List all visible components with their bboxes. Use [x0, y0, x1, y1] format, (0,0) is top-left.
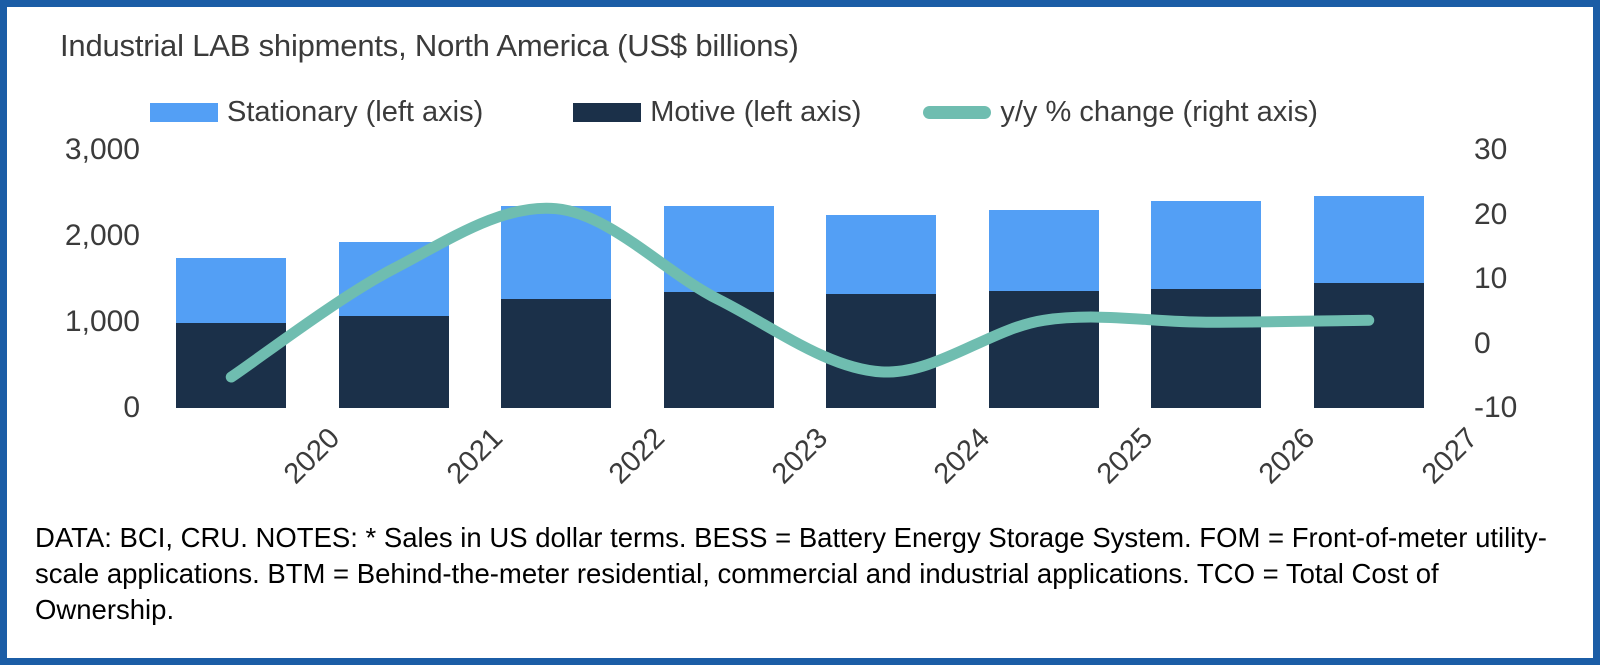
legend-swatch-motive-icon [573, 103, 641, 122]
x-axis-tick: 2026 [1253, 422, 1322, 491]
legend-label-yy-change: y/y % change (right axis) [1000, 96, 1318, 129]
x-axis-tick: 2024 [928, 422, 997, 491]
x-axis-tick: 2027 [1416, 422, 1485, 491]
chart-title: Industrial LAB shipments, North America … [60, 28, 799, 64]
plot-area [150, 150, 1450, 408]
right-axis-tick: 30 [1474, 135, 1507, 165]
x-axis-tick: 2022 [603, 422, 672, 491]
legend-item-stationary: Stationary (left axis) [150, 96, 483, 129]
chart-legend: Stationary (left axis) Motive (left axis… [150, 92, 1318, 132]
legend-item-yy-change: y/y % change (right axis) [923, 96, 1318, 129]
yy-change-line-path [231, 208, 1369, 377]
legend-item-motive: Motive (left axis) [573, 96, 861, 129]
x-axis-tick: 2020 [278, 422, 347, 491]
legend-swatch-yy-change-icon [923, 106, 991, 119]
right-axis-tick: 10 [1474, 264, 1507, 294]
legend-swatch-stationary-icon [150, 103, 218, 122]
right-axis-tick: 20 [1474, 200, 1507, 230]
x-axis: 20202021202220232024202520262027 [150, 408, 1450, 508]
left-axis: 01,0002,0003,000 [25, 150, 140, 408]
left-axis-tick: 0 [123, 393, 140, 423]
x-axis-tick: 2023 [766, 422, 835, 491]
x-axis-tick: 2021 [441, 422, 510, 491]
x-axis-tick: 2025 [1091, 422, 1160, 491]
left-axis-tick: 1,000 [65, 307, 140, 337]
left-axis-tick: 3,000 [65, 135, 140, 165]
right-axis-tick: -10 [1474, 393, 1517, 423]
chart-figure: Industrial LAB shipments, North America … [0, 0, 1600, 665]
line-layer [150, 150, 1450, 408]
legend-label-motive: Motive (left axis) [650, 96, 861, 129]
right-axis: -100102030 [1460, 150, 1575, 408]
right-axis-tick: 0 [1474, 329, 1491, 359]
legend-label-stationary: Stationary (left axis) [227, 96, 483, 129]
footnote: DATA: BCI, CRU. NOTES: * Sales in US dol… [35, 520, 1555, 628]
yy-change-line-svg [150, 150, 1450, 408]
left-axis-tick: 2,000 [65, 221, 140, 251]
